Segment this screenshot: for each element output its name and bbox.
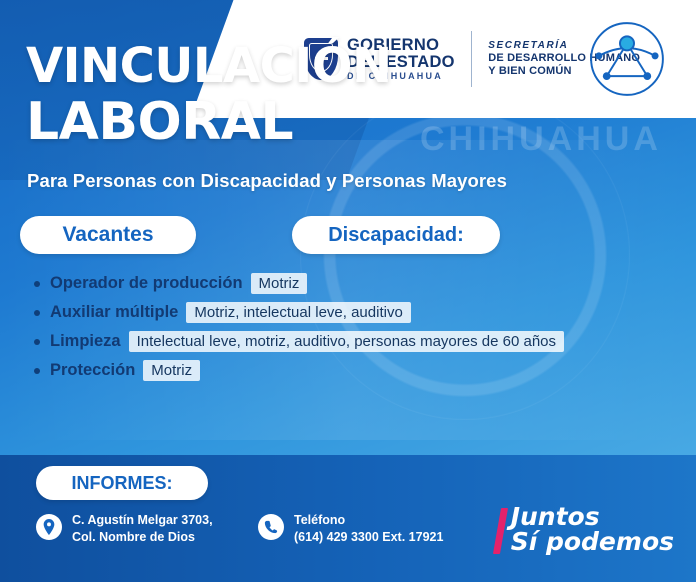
disability-label-pill: Discapacidad: (292, 216, 500, 254)
phone-label: Teléfono (294, 513, 345, 527)
vacancies-label-pill: Vacantes (20, 216, 196, 254)
address-text: C. Agustín Melgar 3703, Col. Nombre de D… (72, 512, 213, 546)
slogan-line2: Sí podemos (511, 529, 674, 555)
job-title: Operador de producción (50, 274, 243, 293)
job-title: Protección (50, 361, 135, 380)
phone-text: Teléfono (614) 429 3300 Ext. 17921 (294, 512, 443, 546)
informes-label-pill: INFORMES: (36, 466, 208, 500)
poster-title-line1: VINCULACIÓN (26, 42, 392, 90)
job-disability-tags: Intelectual leve, motriz, auditivo, pers… (129, 331, 564, 352)
slogan-line1: Juntos (511, 504, 674, 529)
list-item: Protección Motriz (34, 359, 674, 382)
phone-value: (614) 429 3300 Ext. 17921 (294, 530, 443, 544)
bullet-icon (34, 310, 40, 316)
address-block: C. Agustín Melgar 3703, Col. Nombre de D… (36, 512, 213, 546)
job-listings: Operador de producción Motriz Auxiliar m… (34, 272, 674, 388)
list-item: Operador de producción Motriz (34, 272, 674, 295)
list-item: Limpieza Intelectual leve, motriz, audit… (34, 330, 674, 353)
poster-canvas: CHIHUAHUA GOBIERNO DEL ESTADO DE CHIHUAH… (0, 0, 696, 582)
slogan-block: Juntos Sí podemos (511, 504, 674, 555)
job-title: Auxiliar múltiple (50, 303, 178, 322)
watermark-text: CHIHUAHUA (420, 120, 662, 159)
poster-title-line2: LABORAL (26, 96, 293, 148)
list-item: Auxiliar múltiple Motriz, intelectual le… (34, 301, 674, 324)
human-development-emblem-icon (588, 20, 666, 98)
bullet-icon (34, 368, 40, 374)
poster-subtitle: Para Personas con Discapacidad y Persona… (27, 170, 507, 192)
address-line1: C. Agustín Melgar 3703, (72, 513, 213, 527)
phone-block: Teléfono (614) 429 3300 Ext. 17921 (258, 512, 443, 546)
job-title: Limpieza (50, 332, 121, 351)
job-disability-tags: Motriz, intelectual leve, auditivo (186, 302, 410, 323)
location-pin-icon (36, 514, 62, 540)
phone-icon (258, 514, 284, 540)
bullet-icon (34, 339, 40, 345)
job-disability-tags: Motriz (251, 273, 308, 294)
job-disability-tags: Motriz (143, 360, 200, 381)
header-divider (471, 31, 472, 87)
bullet-icon (34, 281, 40, 287)
address-line2: Col. Nombre de Dios (72, 530, 195, 544)
